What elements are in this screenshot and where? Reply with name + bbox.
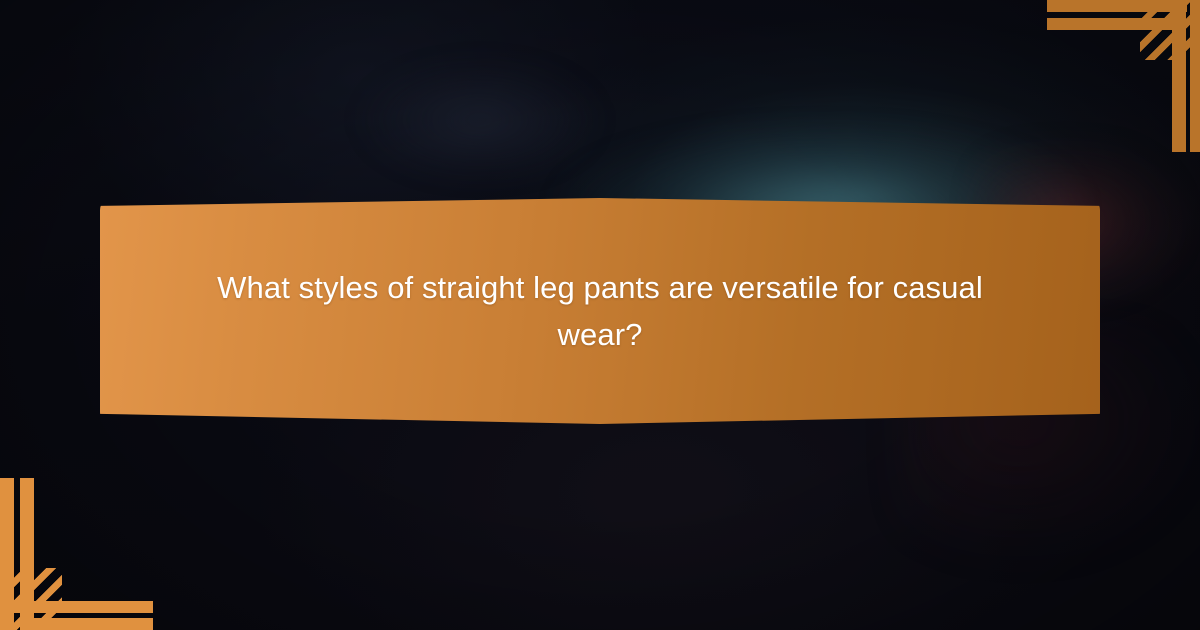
question-banner-content: What styles of straight leg pants are ve…	[100, 198, 1100, 424]
question-text: What styles of straight leg pants are ve…	[210, 264, 990, 358]
corner-bracket-bottom-left-icon	[0, 470, 160, 630]
social-card-canvas: What styles of straight leg pants are ve…	[0, 0, 1200, 630]
corner-hatch-icon	[0, 568, 62, 630]
question-banner: What styles of straight leg pants are ve…	[100, 198, 1100, 424]
corner-hatch-icon	[1140, 0, 1200, 60]
corner-bracket-top-right-icon	[1040, 0, 1200, 160]
